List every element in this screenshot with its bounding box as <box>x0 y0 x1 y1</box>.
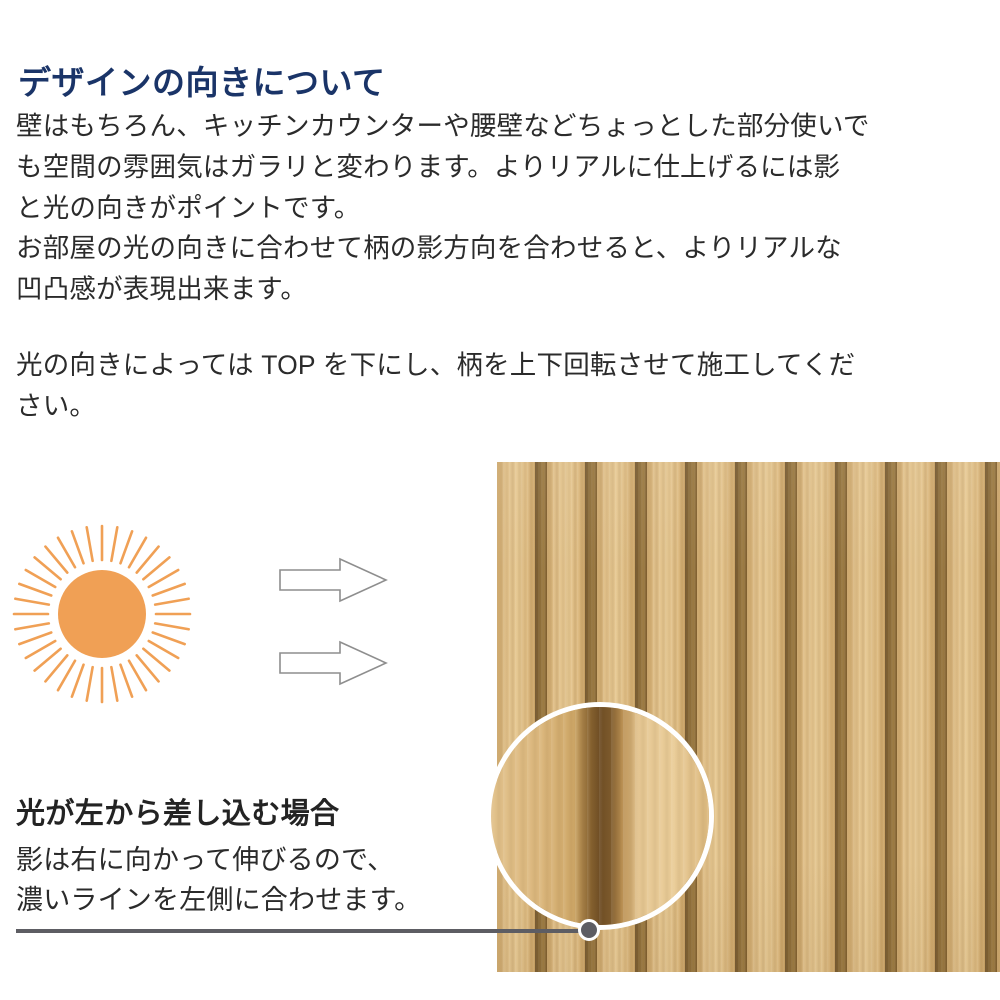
intro-line-2: も空間の雰囲気はガラリと変わります。よりリアルに仕上げるには影 <box>16 147 991 188</box>
caption-heading: 光が左から差し込む場合 <box>16 790 339 832</box>
slat-face <box>747 462 785 972</box>
slat-shadow-groove <box>885 462 897 972</box>
callout-dot <box>578 919 600 941</box>
slat-shadow-groove <box>735 462 747 972</box>
page-title: デザインの向きについて <box>18 56 386 104</box>
slat-face <box>897 462 935 972</box>
slat-shadow-groove <box>785 462 797 972</box>
wood-slat <box>747 462 797 972</box>
rotation-note-paragraph: 光の向きによっては TOP を下にし、柄を上下回転させて施工してくだ さい。 <box>16 345 991 427</box>
slat-face <box>947 462 985 972</box>
light-direction-arrow-bottom <box>278 640 388 686</box>
detail-line-1: お部屋の光の向きに合わせて柄の影方向を合わせると、よりリアルな <box>16 228 991 269</box>
intro-paragraph: 壁はもちろん、キッチンカウンターや腰壁などちょっとした部分使いで も空間の雰囲気… <box>16 106 991 229</box>
rotate-line-2: さい。 <box>16 386 991 427</box>
light-direction-arrow-top <box>278 557 388 603</box>
slat-face <box>847 462 885 972</box>
rotate-line-1: 光の向きによっては TOP を下にし、柄を上下回転させて施工してくだ <box>16 345 991 386</box>
slat-shadow-groove <box>985 462 997 972</box>
callout-leader-line <box>16 929 586 933</box>
magnifier-grain-overlay <box>491 707 709 925</box>
slat-shadow-groove <box>835 462 847 972</box>
detail-magnifier-circle <box>486 702 714 930</box>
caption-line-2: 濃いラインを左側に合わせます。 <box>16 880 421 920</box>
slat-face <box>797 462 835 972</box>
caption-line-1: 影は右に向かって伸びるので、 <box>16 840 421 880</box>
intro-line-3: と光の向きがポイントです。 <box>16 188 991 229</box>
detail-paragraph: お部屋の光の向きに合わせて柄の影方向を合わせると、よりリアルな 凹凸感が表現出来… <box>16 228 991 310</box>
slat-shadow-groove <box>935 462 947 972</box>
wood-slat <box>947 462 997 972</box>
design-orientation-page: デザインの向きについて 壁はもちろん、キッチンカウンターや腰壁などちょっとした部… <box>0 0 1000 1000</box>
wood-slat <box>847 462 897 972</box>
intro-line-1: 壁はもちろん、キッチンカウンターや腰壁などちょっとした部分使いで <box>16 106 991 147</box>
wood-slat <box>897 462 947 972</box>
detail-line-2: 凹凸感が表現出来ます。 <box>16 269 991 310</box>
sun-icon <box>12 522 192 706</box>
wood-slat <box>797 462 847 972</box>
caption-body: 影は右に向かって伸びるので、 濃いラインを左側に合わせます。 <box>16 840 421 920</box>
